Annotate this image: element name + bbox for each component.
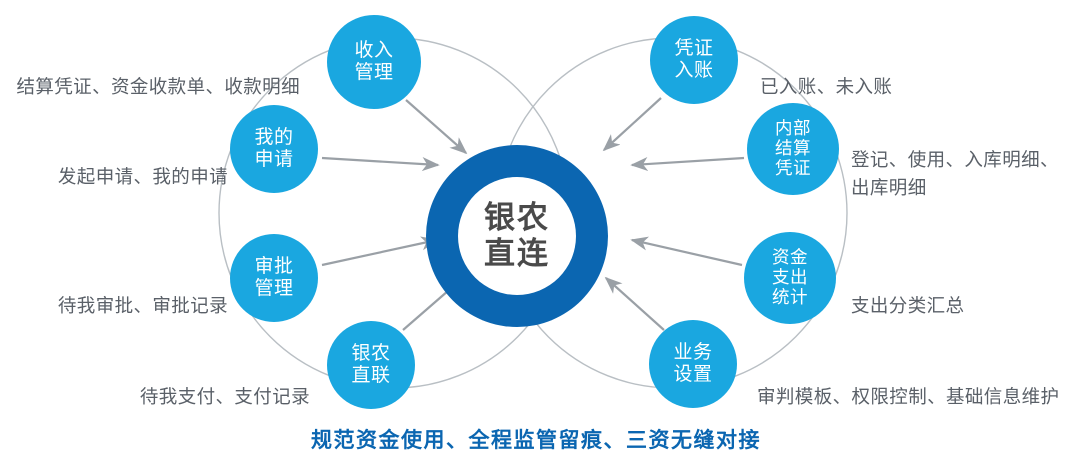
label-voucher-entry-detail: 已入账、未入账 <box>760 45 892 101</box>
node-my-application[interactable]: 我的 申请 <box>230 105 318 193</box>
node-label-voucher-entry: 凭证 入账 <box>674 38 713 83</box>
hub-circle: 银农 直连 <box>426 145 608 327</box>
label-business-settings-detail: 审判模板、权限控制、基础信息维护 <box>757 355 1059 411</box>
label-income-management-detail: 结算凭证、资金收款单、收款明细 <box>16 45 300 101</box>
label-my-application-detail: 发起申请、我的申请 <box>58 135 228 191</box>
label-fund-expenditure-detail: 支出分类汇总 <box>851 264 964 320</box>
label-bank-farm-direct-detail: 待我支付、支付记录 <box>140 355 310 411</box>
node-income-management[interactable]: 收入 管理 <box>327 15 421 109</box>
node-voucher-entry[interactable]: 凭证 入账 <box>650 16 738 104</box>
label-text-bank-farm-direct-detail: 待我支付、支付记录 <box>140 386 310 407</box>
label-text-business-settings-detail: 审判模板、权限控制、基础信息维护 <box>757 386 1059 407</box>
node-label-fund-expenditure-statistics: 资金 支出 统计 <box>772 248 808 308</box>
arrow-income-to-hub <box>406 100 466 153</box>
node-fund-expenditure-statistics[interactable]: 资金 支出 统计 <box>744 232 836 324</box>
node-label-approval-management: 审批 管理 <box>254 256 293 301</box>
node-label-bank-farm-direct: 银农 直联 <box>351 343 390 388</box>
arrow-settings-to-hub <box>606 278 664 330</box>
diagram-canvas: 银农 直连 收入 管理 我的 申请 审批 管理 银农 直联 凭证 入账 内部 结… <box>0 0 1072 471</box>
node-label-income-management: 收入 管理 <box>354 40 393 85</box>
node-label-my-application: 我的 申请 <box>254 127 293 172</box>
label-text-approval-management-detail: 待我审批、审批记录 <box>58 295 228 316</box>
arrow-voucher-to-hub <box>604 98 661 150</box>
label-text-income-management-detail: 结算凭证、资金收款单、收款明细 <box>16 76 300 97</box>
hub-label: 银农 直连 <box>484 200 550 272</box>
label-text-fund-expenditure-detail: 支出分类汇总 <box>851 295 964 316</box>
node-business-settings[interactable]: 业务 设置 <box>649 320 737 408</box>
node-label-business-settings: 业务 设置 <box>673 342 712 387</box>
caption-label: 规范资金使用、全程监管留痕、三资无缝对接 <box>0 424 1072 454</box>
label-approval-management-detail: 待我审批、审批记录 <box>58 264 228 320</box>
arrow-settlement-to-hub <box>632 158 744 165</box>
label-text-internal-settlement-detail: 登记、使用、入库明细、 出库明细 <box>851 149 1059 198</box>
label-text-my-application-detail: 发起申请、我的申请 <box>58 166 228 187</box>
arrow-approval-to-hub <box>322 240 437 265</box>
node-internal-settlement-voucher[interactable]: 内部 结算 凭证 <box>747 103 839 195</box>
hub-inner-circle: 银农 直连 <box>458 177 576 295</box>
node-approval-management[interactable]: 审批 管理 <box>230 234 318 322</box>
label-internal-settlement-detail: 登记、使用、入库明细、 出库明细 <box>851 118 1059 201</box>
bottom-caption: 规范资金使用、全程监管留痕、三资无缝对接 <box>0 424 1072 454</box>
node-bank-farm-direct[interactable]: 银农 直联 <box>327 321 415 409</box>
arrow-expenditure-to-hub <box>632 240 742 265</box>
label-text-voucher-entry-detail: 已入账、未入账 <box>760 76 892 97</box>
node-label-internal-settlement-voucher: 内部 结算 凭证 <box>775 119 811 179</box>
arrow-application-to-hub <box>322 158 438 165</box>
